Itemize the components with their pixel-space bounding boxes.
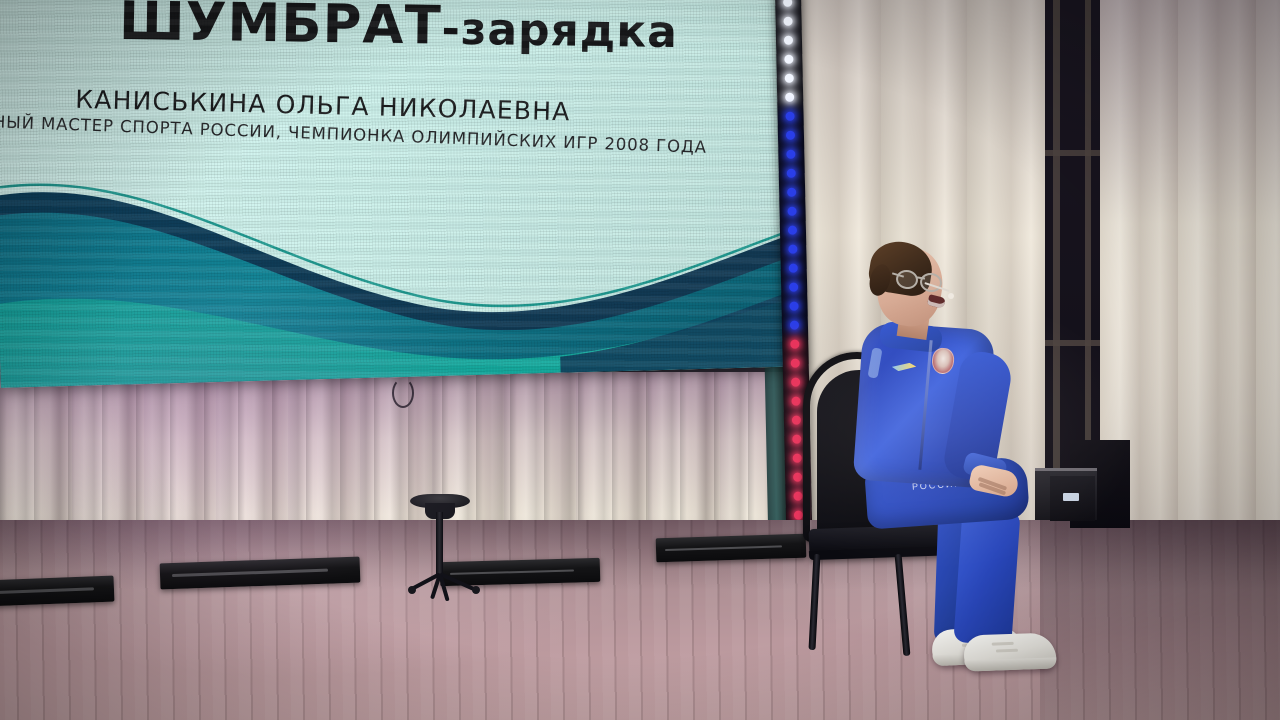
stool-column xyxy=(436,512,443,574)
led-dot xyxy=(787,207,796,216)
led-dot xyxy=(787,169,796,178)
led-dot xyxy=(789,264,798,273)
stool-caster xyxy=(472,586,480,594)
shoe-right xyxy=(963,632,1056,671)
led-dot xyxy=(786,150,795,159)
chair-leg xyxy=(808,554,820,650)
floor-light-bar xyxy=(0,576,114,607)
cable-loop xyxy=(392,378,414,408)
led-dot xyxy=(787,188,796,197)
shoe-lace xyxy=(992,642,1014,646)
led-dot xyxy=(785,112,794,121)
led-dot xyxy=(789,283,798,292)
led-dot xyxy=(784,36,793,45)
truss-horizontal xyxy=(1045,150,1107,156)
leg-near xyxy=(953,506,1020,646)
stage-photo: ШУМБРАТ-зарядка КАНИСЬКИНА ОЛЬГА НИКОЛАЕ… xyxy=(0,0,1280,720)
seated-person: РОССИЯ xyxy=(840,240,1100,680)
led-dot xyxy=(788,245,797,254)
led-dot xyxy=(788,226,797,235)
headset-microphone-capsule xyxy=(948,293,954,299)
led-dot xyxy=(783,17,792,26)
led-dot xyxy=(789,302,798,311)
led-dot xyxy=(785,93,794,102)
led-dot xyxy=(783,0,792,7)
slide-title-suffix: -зарядка xyxy=(441,4,678,59)
led-screen: ШУМБРАТ-зарядка КАНИСЬКИНА ОЛЬГА НИКОЛАЕ… xyxy=(0,0,801,388)
shoe-sole xyxy=(964,657,1056,671)
led-dot xyxy=(786,131,795,140)
shoe-lace xyxy=(996,649,1018,653)
led-dot xyxy=(784,55,793,64)
slide-text-block: ШУМБРАТ-зарядка КАНИСЬКИНА ОЛЬГА НИКОЛАЕ… xyxy=(0,0,796,238)
led-dot xyxy=(790,321,799,330)
slide-title: ШУМБРАТ-зарядка xyxy=(119,0,679,60)
stool-caster xyxy=(408,586,416,594)
slide-title-main: ШУМБРАТ xyxy=(119,0,442,57)
led-dot xyxy=(785,74,794,83)
floor-light-bar xyxy=(656,534,807,563)
